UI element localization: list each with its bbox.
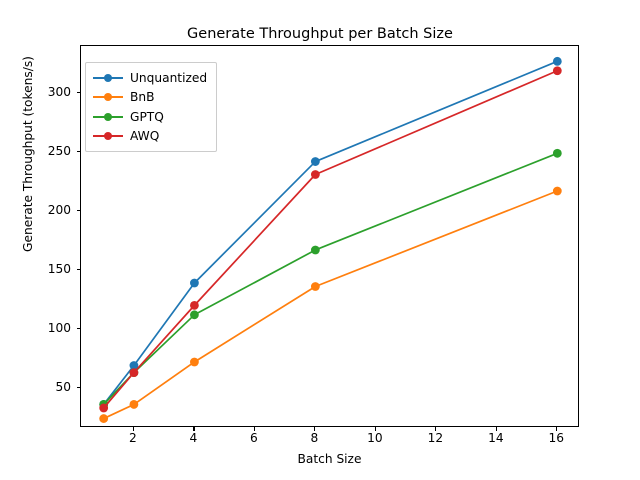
x-tick-label: 14	[476, 431, 516, 445]
legend-dot-icon	[104, 132, 112, 140]
series-line	[104, 191, 558, 419]
legend-item[interactable]: GPTQ	[93, 107, 207, 127]
legend-item[interactable]: BnB	[93, 88, 207, 108]
legend-dot-icon	[104, 93, 112, 101]
data-point-marker	[190, 301, 199, 310]
legend-label: GPTQ	[130, 111, 164, 123]
x-tick-label: 2	[113, 431, 153, 445]
y-tick-label: 200	[0, 203, 71, 217]
data-point-marker	[553, 149, 562, 158]
x-tick-label: 8	[294, 431, 334, 445]
legend-dot-icon	[104, 74, 112, 82]
data-point-marker	[99, 414, 108, 423]
legend-label: Unquantized	[130, 72, 207, 84]
x-tick-label: 6	[234, 431, 274, 445]
data-point-marker	[190, 358, 199, 367]
legend-item[interactable]: Unquantized	[93, 68, 207, 88]
x-axis-label: Batch Size	[80, 452, 579, 466]
legend-label: BnB	[130, 91, 154, 103]
x-tick-label: 4	[173, 431, 213, 445]
y-tick-label: 300	[0, 85, 71, 99]
data-point-marker	[190, 310, 199, 319]
legend-marker-icon	[93, 90, 123, 104]
x-tick-label: 12	[415, 431, 455, 445]
data-point-marker	[99, 404, 108, 413]
data-point-marker	[553, 187, 562, 196]
chart-title: Generate Throughput per Batch Size	[0, 26, 640, 42]
legend-marker-icon	[93, 110, 123, 124]
data-point-marker	[311, 246, 320, 255]
data-point-marker	[553, 66, 562, 75]
data-point-marker	[190, 279, 199, 288]
chart-legend[interactable]: UnquantizedBnBGPTQAWQ	[85, 62, 217, 152]
data-point-marker	[311, 282, 320, 291]
legend-label: AWQ	[130, 130, 159, 142]
y-axis-label: Generate Throughput (tokens/s)	[21, 0, 35, 345]
y-tick-label: 100	[0, 321, 71, 335]
legend-marker-icon	[93, 71, 123, 85]
x-tick-label: 16	[536, 431, 576, 445]
data-point-marker	[130, 400, 139, 409]
data-point-marker	[311, 170, 320, 179]
data-point-marker	[130, 368, 139, 377]
data-point-marker	[553, 57, 562, 66]
y-tick-label: 150	[0, 262, 71, 276]
y-tick-label: 50	[0, 380, 71, 394]
chart-figure: Generate Throughput per Batch Size 50100…	[0, 0, 640, 480]
data-point-marker	[311, 157, 320, 166]
legend-dot-icon	[104, 113, 112, 121]
y-tick-label: 250	[0, 144, 71, 158]
legend-marker-icon	[93, 129, 123, 143]
x-tick-label: 10	[355, 431, 395, 445]
series-line	[104, 153, 558, 404]
legend-item[interactable]: AWQ	[93, 127, 207, 147]
